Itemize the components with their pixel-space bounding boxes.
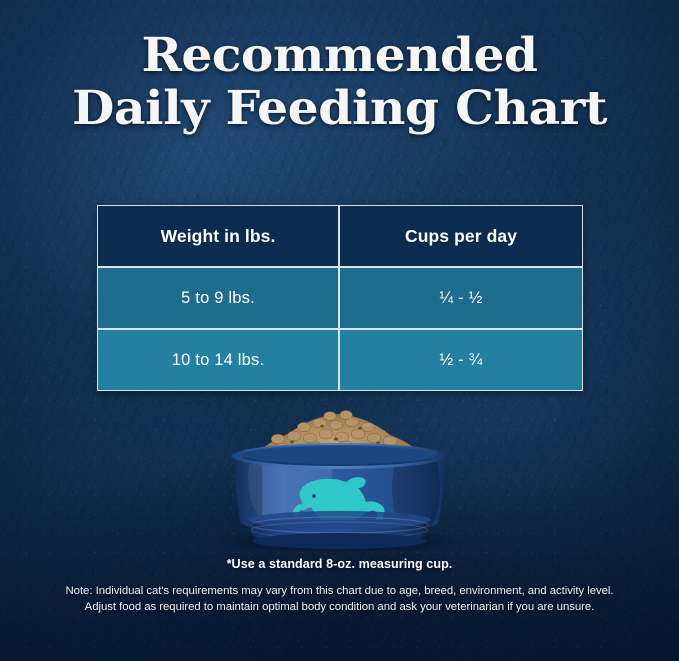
page-title: Recommended Daily Feeding Chart	[0, 30, 679, 136]
column-header-cups: Cups per day	[339, 205, 583, 267]
page-title-line-2: Daily Feeding Chart	[0, 82, 679, 136]
bowl-illustration	[0, 408, 679, 553]
cell-cups-amount: ¼ - ½	[339, 267, 583, 329]
feeding-chart-table: Weight in lbs. Cups per day 5 to 9 lbs. …	[97, 205, 583, 391]
table-row: 10 to 14 lbs. ½ - ¾	[97, 329, 583, 391]
table-row: 5 to 9 lbs. ¼ - ½	[97, 267, 583, 329]
disclaimer-line-2: Adjust food as required to maintain opti…	[0, 600, 679, 616]
bowl-base	[248, 511, 431, 549]
dog-food-bowl-image	[0, 408, 679, 553]
page-title-line-1: Recommended	[0, 30, 679, 82]
disclaimer-note: Note: Individual cat's requirements may …	[0, 584, 679, 615]
disclaimer-line-1: Note: Individual cat's requirements may …	[0, 584, 679, 600]
feeding-chart-poster: Recommended Daily Feeding Chart Weight i…	[0, 0, 679, 661]
table-header-row: Weight in lbs. Cups per day	[97, 205, 583, 267]
cell-cups-amount: ½ - ¾	[339, 329, 583, 391]
cell-weight-range: 5 to 9 lbs.	[97, 267, 339, 329]
bowl-rim	[232, 443, 447, 469]
column-header-weight: Weight in lbs.	[97, 205, 339, 267]
cell-weight-range: 10 to 14 lbs.	[97, 329, 339, 391]
measuring-cup-note: *Use a standard 8-oz. measuring cup.	[0, 557, 679, 571]
